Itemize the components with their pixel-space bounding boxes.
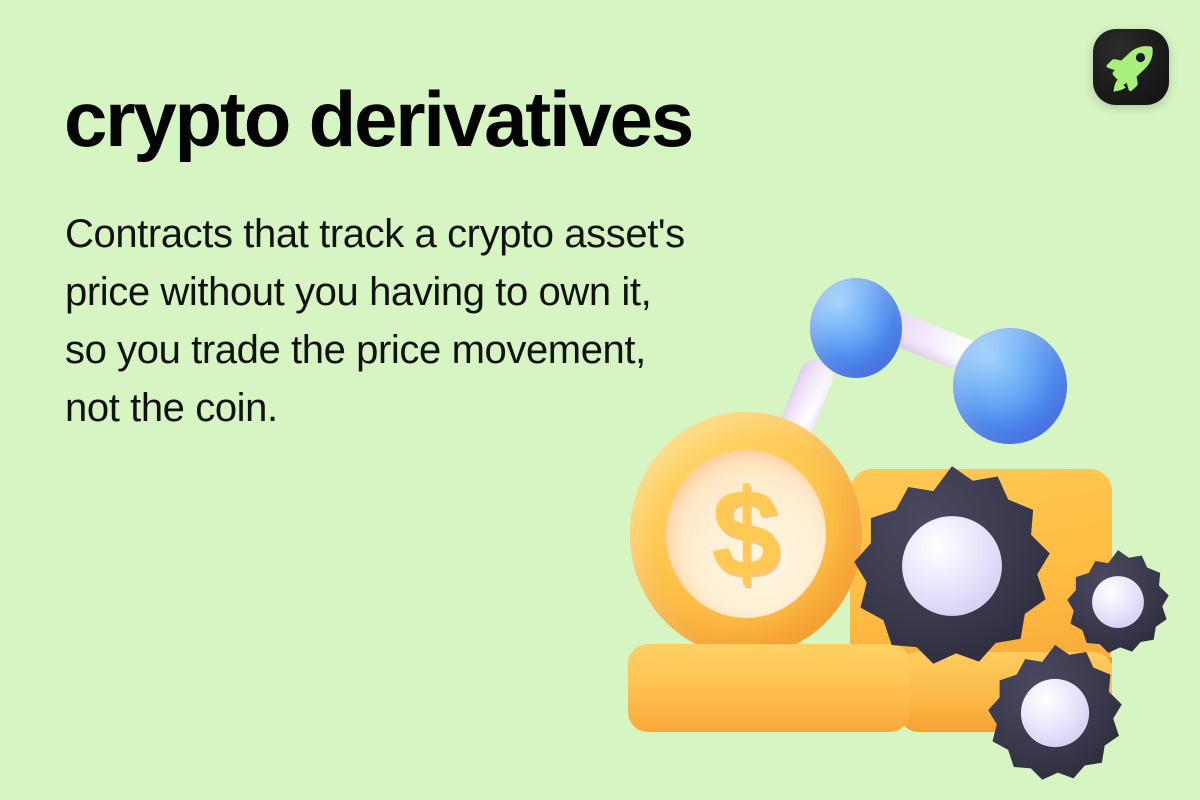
rocket-icon <box>1093 29 1169 105</box>
coin-face: $ <box>666 450 826 618</box>
dollar-coin: $ <box>630 412 862 656</box>
gear-small <box>1064 548 1172 656</box>
page-title: crypto derivatives <box>64 78 692 161</box>
chart-node-left <box>810 278 902 378</box>
gear-medium <box>984 642 1126 784</box>
dollar-sign-icon: $ <box>666 472 826 596</box>
chart-node-right <box>953 328 1067 444</box>
rocket-logo-badge[interactable] <box>1093 29 1169 105</box>
description-text: Contracts that track a crypto asset's pr… <box>65 205 695 437</box>
gear-large <box>848 462 1056 670</box>
poster-canvas: $ <box>0 0 1200 800</box>
